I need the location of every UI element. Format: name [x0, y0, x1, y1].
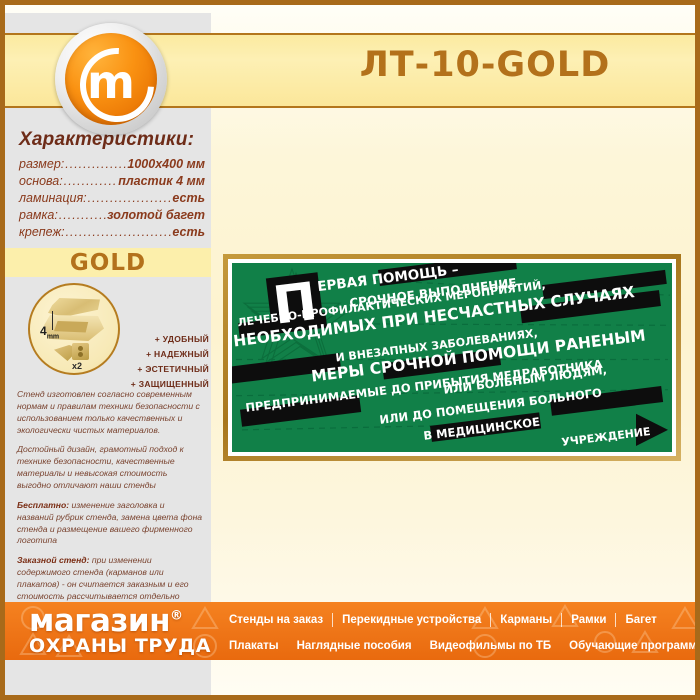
product-card-page: ЛТ-10-GOLD m Характеристики: размер: ...… [0, 0, 700, 700]
benefit-item: + УДОБНЫЙ [117, 334, 209, 344]
footer-nav-row-1: Стенды на заказ Перекидные устройства Ка… [220, 608, 700, 631]
frame-cross-section-diagram: 4mm х2 [28, 283, 120, 375]
benefit-item: + НАДЕЖНЫЙ [117, 349, 209, 359]
spec-value: 1000х400 мм [127, 157, 205, 171]
magazin-m-logo-icon[interactable]: m [55, 23, 167, 135]
spec-row-size: размер: ...................... 1000х400 … [19, 157, 205, 171]
spec-row-frame: рамка: .................. золотой багет [19, 208, 205, 222]
fastener-count-label: х2 [72, 361, 82, 371]
copy-paragraph-custom: Заказной стенд: при изменении содержимог… [17, 555, 203, 602]
logo-letter-m: m [65, 33, 157, 125]
benefit-item: + ЗАЩИЩЕННЫЙ [117, 379, 209, 389]
specifications-block: Характеристики: размер: ................… [19, 129, 205, 242]
nav-link-ramki[interactable]: Рамки [562, 614, 615, 626]
gold-badge-label: GOLD [70, 250, 146, 276]
spec-row-fastener: крепеж: ................................… [19, 225, 205, 239]
spec-value: есть [172, 191, 205, 205]
gold-badge-band: GOLD [5, 248, 211, 277]
mounting-plate-icon [72, 343, 89, 360]
nav-link-naglyadnye-posobiya[interactable]: Наглядные пособия [288, 640, 421, 652]
spec-value: есть [172, 225, 205, 239]
copy-paragraph: Достойный дизайн, грамотный подход к тех… [17, 444, 203, 491]
nav-link-plakaty[interactable]: Плакаты [220, 640, 288, 652]
poster-gold-frame: П ЕРВАЯ ПОМОЩЬ – СРОЧНОЕ ВЫПОЛНЕНИЕ ЛЕЧЕ… [223, 254, 681, 461]
moulding-inner-shape [54, 321, 90, 333]
spec-dots: .................... [64, 174, 117, 188]
copy-paragraph: Стенд изготовлен согласно современным но… [17, 389, 203, 436]
spec-dots: .................. [59, 208, 106, 222]
nav-link-videofilmy-po-tb[interactable]: Видеофильмы по ТБ [421, 640, 561, 652]
thickness-value: 4 [40, 324, 47, 338]
spec-key: ламинация: [19, 191, 87, 205]
spec-dots: .............................. [88, 191, 172, 205]
spec-dots: .................................. [66, 225, 172, 239]
footer-nav-row-2: Плакаты Наглядные пособия Видеофильмы по… [220, 634, 700, 657]
nav-link-karmany[interactable]: Карманы [491, 614, 561, 626]
nav-link-obuchayushchie-programmy[interactable]: Обучающие программы [560, 640, 700, 652]
spec-key: крепеж: [19, 225, 65, 239]
spec-dots: ...................... [65, 157, 126, 171]
poster-white-mat: П ЕРВАЯ ПОМОЩЬ – СРОЧНОЕ ВЫПОЛНЕНИЕ ЛЕЧЕ… [228, 259, 676, 456]
benefits-list: + УДОБНЫЙ + НАДЕЖНЫЙ + ЭСТЕТИЧНЫЙ + ЗАЩИ… [117, 334, 209, 394]
moulding-top-shape [48, 298, 100, 317]
thickness-label: 4mm [40, 325, 59, 340]
logo-disc: m [65, 33, 157, 125]
registered-mark-icon: ® [170, 609, 183, 624]
spec-key: основа: [19, 174, 63, 188]
page-title: ЛТ-10-GOLD [305, 45, 665, 85]
nav-link-baget[interactable]: Багет [616, 614, 665, 626]
copy-paragraph-free: Бесплатно: изменение заголовка и названи… [17, 500, 203, 547]
nav-link-stendy-na-zakaz[interactable]: Стенды на заказ [220, 614, 332, 626]
spec-value: пластик 4 мм [118, 174, 205, 188]
nav-link-perekidnye-ustroystva[interactable]: Перекидные устройства [333, 614, 490, 626]
poster-artwork: П ЕРВАЯ ПОМОЩЬ – СРОЧНОЕ ВЫПОЛНЕНИЕ ЛЕЧЕ… [232, 263, 672, 452]
spec-key: размер: [19, 157, 64, 171]
spec-row-base: основа: .................... пластик 4 м… [19, 174, 205, 188]
poster-first-aid: П ЕРВАЯ ПОМОЩЬ – СРОЧНОЕ ВЫПОЛНЕНИЕ ЛЕЧЕ… [232, 263, 672, 452]
benefit-item: + ЭСТЕТИЧНЫЙ [117, 364, 209, 374]
spec-row-lamination: ламинация: .............................… [19, 191, 205, 205]
thickness-unit: mm [47, 333, 59, 340]
spec-key: рамка: [19, 208, 58, 222]
site-footer: магазин® ОХРАНЫ ТРУДА Стенды на заказ Пе… [5, 602, 700, 660]
spec-value: золотой багет [107, 208, 205, 222]
footer-navigation: Стенды на заказ Перекидные устройства Ка… [220, 608, 700, 660]
